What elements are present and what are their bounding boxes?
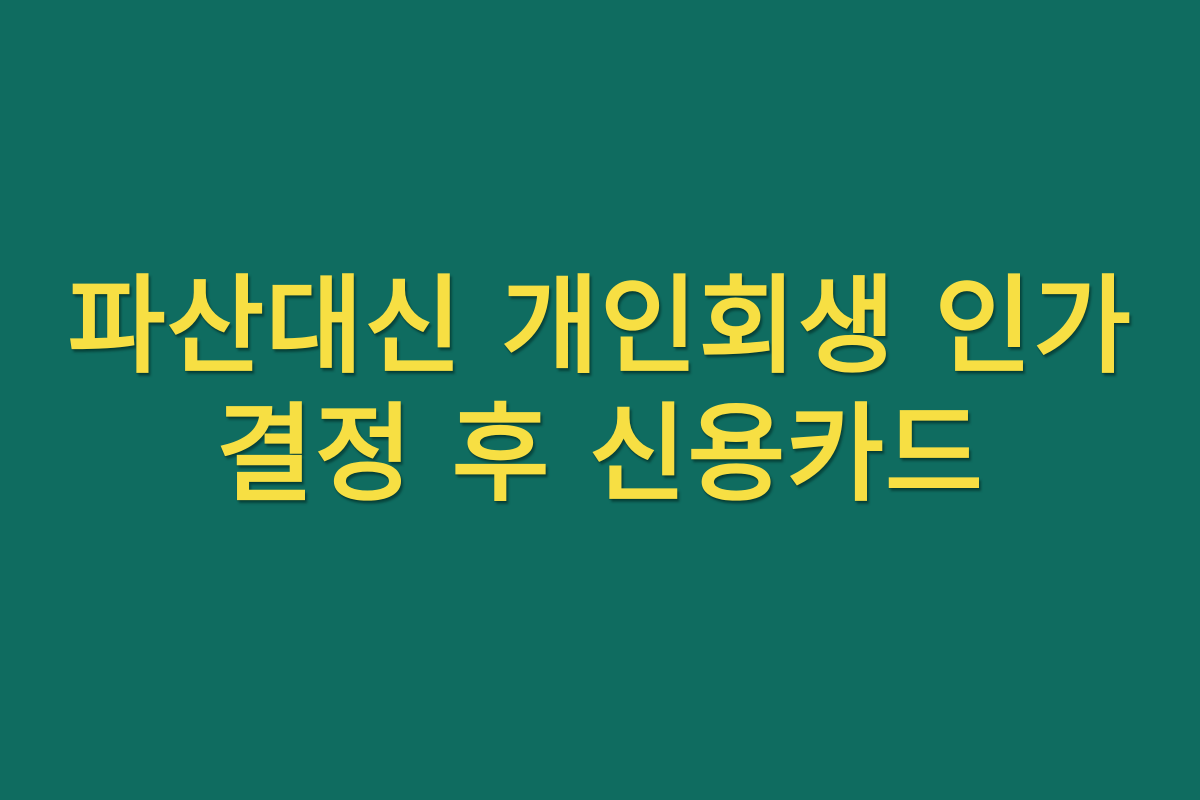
title-line-1: 파산대신 개인회생 인가 — [40, 263, 1160, 391]
title-text-block: 파산대신 개인회생 인가 결정 후 신용카드 — [0, 263, 1200, 520]
title-line-2: 결정 후 신용카드 — [40, 391, 1160, 519]
title-card-canvas: 파산대신 개인회생 인가 결정 후 신용카드 — [0, 0, 1200, 800]
